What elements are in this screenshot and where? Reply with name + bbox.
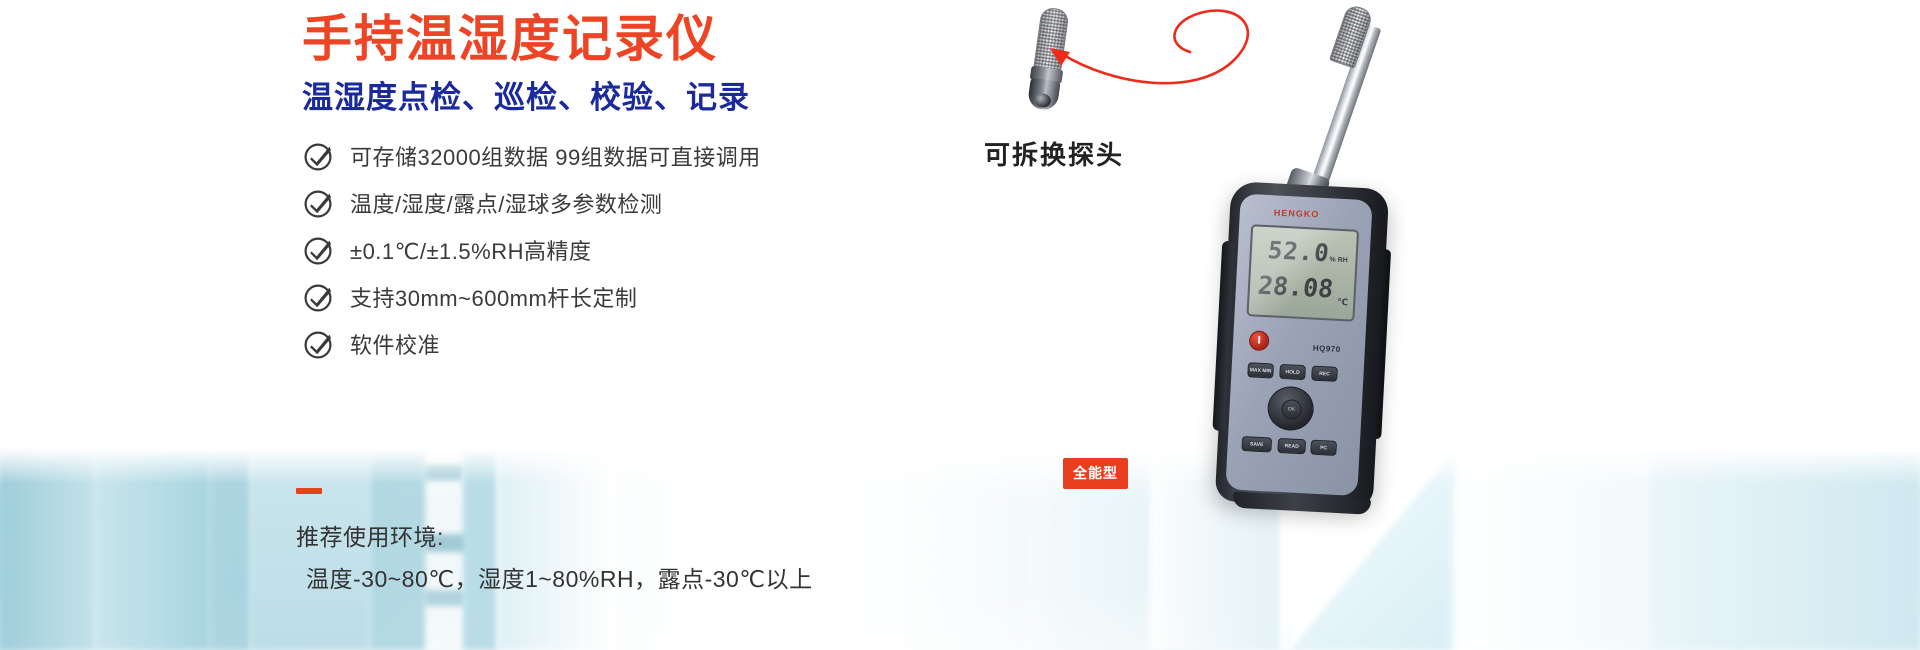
lcd-screen: 52.0 % RH 28.08 ℃ <box>1246 224 1359 322</box>
brand-logo: HENGKO <box>1274 208 1320 220</box>
page-title: 手持温湿度记录仪 <box>302 8 718 70</box>
list-item-label: 可存储32000组数据 99组数据可直接调用 <box>350 140 761 172</box>
list-item-label: 支持30mm~600mm杆长定制 <box>350 281 637 313</box>
key-hold[interactable]: HOLD <box>1279 364 1306 380</box>
product-artwork: HENGKO 52.0 % RH 28.08 ℃ HQ970 MAX MIN H… <box>940 0 1460 650</box>
list-item-label: ±0.1℃/±1.5%RH高精度 <box>350 234 591 266</box>
feature-list: 可存储32000组数据 99组数据可直接调用 温度/湿度/露点/湿球多参数检测 … <box>302 132 1042 367</box>
key-read[interactable]: READ <box>1277 438 1306 454</box>
list-item: 可存储32000组数据 99组数据可直接调用 <box>302 132 1042 179</box>
check-circle-icon <box>302 280 336 314</box>
list-item-label: 温度/湿度/露点/湿球多参数检测 <box>350 187 662 219</box>
probe-label: 可拆换探头 <box>984 135 1124 172</box>
list-item: 温度/湿度/露点/湿球多参数检测 <box>302 179 1042 226</box>
check-circle-icon <box>302 327 336 361</box>
device-model-label: HQ970 <box>1313 344 1341 354</box>
list-item: ±0.1℃/±1.5%RH高精度 <box>302 226 1042 273</box>
list-item: 支持30mm~600mm杆长定制 <box>302 273 1042 320</box>
key-save[interactable]: SAVE <box>1241 436 1272 453</box>
check-circle-icon <box>302 186 336 220</box>
check-circle-icon <box>302 233 336 267</box>
handheld-meter-image: HENGKO 52.0 % RH 28.08 ℃ HQ970 MAX MIN H… <box>1110 0 1440 520</box>
key-pc[interactable]: PC <box>1310 440 1337 456</box>
key-ok[interactable]: OK <box>1281 399 1302 420</box>
check-circle-icon <box>302 139 336 173</box>
power-button[interactable] <box>1249 330 1270 351</box>
device-bottom-cap <box>1232 492 1371 515</box>
device-grip-right <box>1371 249 1391 439</box>
product-banner: 手持温湿度记录仪 温湿度点检、巡检、校验、记录 可存储32000组数据 99组数… <box>0 0 1920 650</box>
recommended-env-title: 推荐使用环境: <box>296 518 444 552</box>
keypad: MAX MIN HOLD REC OK SAVE READ PC <box>1236 362 1356 488</box>
key-max-min[interactable]: MAX MIN <box>1247 362 1274 378</box>
list-item: 软件校准 <box>302 320 1042 367</box>
lcd-glare <box>1248 226 1359 321</box>
list-item-label: 软件校准 <box>350 328 440 360</box>
recommended-env-detail: 温度-30~80℃，湿度1~80%RH，露点-30℃以上 <box>306 560 813 594</box>
device-front-panel: HENGKO 52.0 % RH 28.08 ℃ HQ970 MAX MIN H… <box>1225 194 1372 497</box>
divider-dash <box>296 488 322 494</box>
page-subtitle: 温湿度点检、巡检、校验、记录 <box>302 78 750 118</box>
navigation-pad[interactable]: OK <box>1267 385 1315 431</box>
device-body: HENGKO 52.0 % RH 28.08 ℃ HQ970 MAX MIN H… <box>1215 181 1390 509</box>
key-rec[interactable]: REC <box>1311 366 1338 382</box>
status-badge: 全能型 <box>1063 458 1128 489</box>
